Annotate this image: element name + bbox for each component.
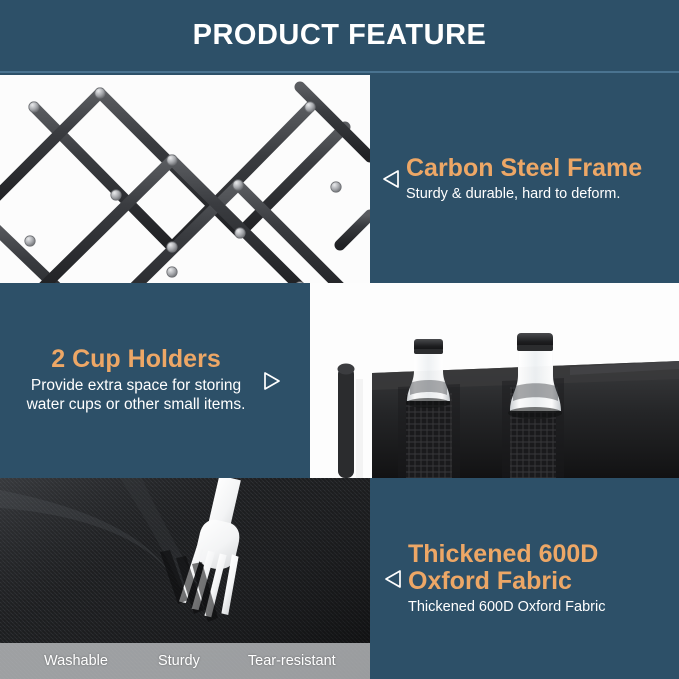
feature-image-carbon-steel-frame: [0, 75, 370, 283]
feature-title: Carbon Steel Frame: [406, 155, 642, 182]
feature-subtitle: Thickened 600D Oxford Fabric: [408, 599, 605, 617]
feature-row-carbon-steel-frame: Carbon Steel Frame Sturdy & durable, har…: [0, 75, 679, 283]
feature-text-oxford-fabric: Thickened 600D Oxford Fabric Thickened 6…: [370, 478, 679, 679]
cup-holders-photo: [310, 283, 679, 478]
triangle-left-icon: [380, 167, 402, 191]
header-bar: PRODUCT FEATURE: [0, 0, 679, 73]
feature-subtitle-line-2: water cups or other small items.: [27, 396, 246, 415]
steel-frame-photo: [0, 75, 370, 283]
feature-row-cup-holders: 2 Cup Holders Provide extra space for st…: [0, 283, 679, 478]
feature-text-cup-holders: 2 Cup Holders Provide extra space for st…: [0, 283, 310, 478]
feature-title-line-1: Thickened 600D: [408, 541, 605, 568]
feature-subtitle-line-1: Provide extra space for storing: [27, 377, 246, 396]
tag-washable: Washable: [44, 653, 108, 669]
oxford-fabric-photo: Washable Sturdy Tear-resistant: [0, 478, 370, 679]
feature-title: 2 Cup Holders: [27, 346, 246, 373]
feature-text-carbon-steel-frame: Carbon Steel Frame Sturdy & durable, har…: [370, 75, 679, 283]
feature-image-oxford-fabric: Washable Sturdy Tear-resistant: [0, 478, 370, 679]
triangle-right-icon: [261, 369, 283, 393]
feature-title-line-2: Oxford Fabric: [408, 568, 605, 595]
product-feature-infographic: PRODUCT FEATURE: [0, 0, 679, 679]
tag-bar: Washable Sturdy Tear-resistant: [0, 643, 370, 679]
feature-row-oxford-fabric: Washable Sturdy Tear-resistant Thickened…: [0, 478, 679, 679]
tag-sturdy: Sturdy: [158, 653, 200, 669]
page-title: PRODUCT FEATURE: [193, 19, 487, 52]
triangle-left-icon: [382, 567, 404, 591]
tag-tear-resistant: Tear-resistant: [248, 653, 336, 669]
feature-image-cup-holders: [310, 283, 679, 478]
feature-subtitle: Sturdy & durable, hard to deform.: [406, 186, 642, 204]
